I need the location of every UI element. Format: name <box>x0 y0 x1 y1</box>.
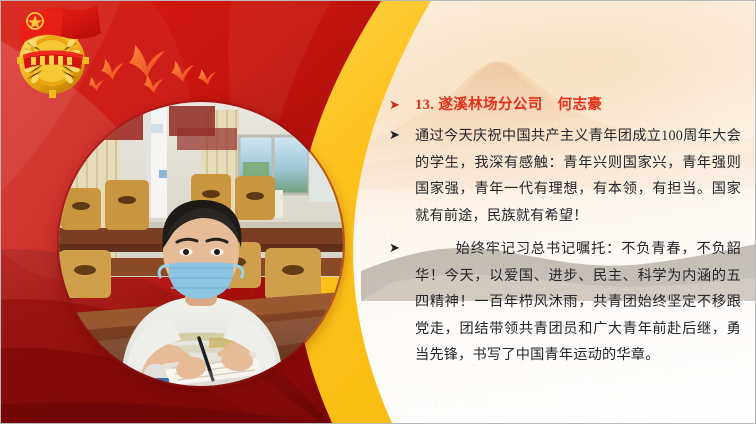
speech-text-panel: ➤ 13. 遂溪林场分公司 何志豪 ➤ 通过今天庆祝中国共产主义青年团成立100… <box>389 93 741 369</box>
paragraph-text-2: 始终牢记习总书记嘱托：不负青春，不负韶华！今天，以爱国、进步、民主、科学为内涵的… <box>415 236 741 369</box>
paragraph-row-2: ➤ 始终牢记习总书记嘱托：不负青春，不负韶华！今天，以爱国、进步、民主、科学为内… <box>389 236 741 369</box>
paragraph-row-1: ➤ 通过今天庆祝中国共产主义青年团成立100周年大会的学生，我深有感触：青年兴则… <box>389 123 741 229</box>
arrow-bullet-icon: ➤ <box>389 123 415 148</box>
paragraph-text-1: 通过今天庆祝中国共产主义青年团成立100周年大会的学生，我深有感触：青年兴则国家… <box>415 123 741 229</box>
page-title: 13. 遂溪林场分公司 何志豪 <box>415 93 602 118</box>
title-row: ➤ 13. 遂溪林场分公司 何志豪 <box>389 93 741 118</box>
presentation-slide: ➤ 13. 遂溪林场分公司 何志豪 ➤ 通过今天庆祝中国共产主义青年团成立100… <box>0 0 756 424</box>
arrow-bullet-icon: ➤ <box>389 93 415 118</box>
flying-doves-icon <box>89 37 221 103</box>
arrow-bullet-icon: ➤ <box>389 236 415 261</box>
paragraph-text-2-content: 始终牢记习总书记嘱托：不负青春，不负韶华！今天，以爱国、进步、民主、科学为内涵的… <box>415 241 741 363</box>
photo-illustration <box>59 102 343 386</box>
participant-photo <box>59 102 343 386</box>
